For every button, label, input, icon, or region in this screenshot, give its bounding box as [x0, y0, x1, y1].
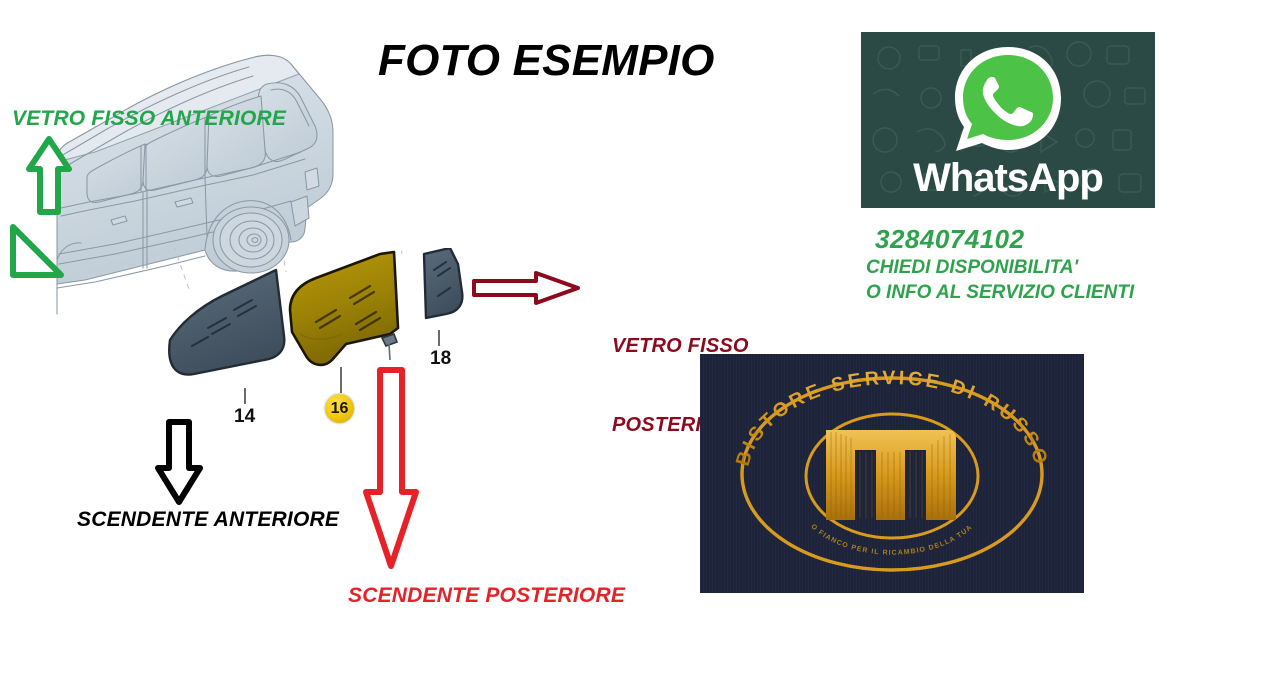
black-down-arrow-icon — [155, 418, 203, 506]
label-rear-drop-glass: SCENDENTE POSTERIORE — [348, 584, 625, 608]
dark-red-right-arrow-icon — [470, 270, 582, 306]
poster-canvas: 14 16 17 18 FOTO ESEMPIO VETRO FISSO ANT… — [0, 0, 1264, 678]
phone-number: 3284074102 — [875, 224, 1196, 255]
contact-line-1: CHIEDI DISPONIBILITA' — [866, 255, 1196, 280]
red-down-arrow-icon — [362, 366, 420, 572]
leader-line-14 — [244, 388, 246, 404]
company-logo-photo: MRICAMBISTORE SERVICE DI RUSSO MARCO — [700, 354, 1084, 593]
page-title: FOTO ESEMPIO — [378, 36, 715, 86]
label-front-drop-glass: SCENDENTE ANTERIORE — [77, 508, 339, 532]
part-number-14: 14 — [234, 406, 255, 428]
part-number-18: 18 — [430, 348, 451, 370]
whatsapp-banner: WhatsApp — [861, 32, 1155, 208]
green-up-arrow-icon — [26, 136, 72, 216]
part-number-16-badge: 16 — [325, 394, 354, 423]
leader-line-16 — [340, 367, 342, 393]
contact-line-2: O INFO AL SERVIZIO CLIENTI — [866, 280, 1196, 305]
contact-block: 3284074102 CHIEDI DISPONIBILITA' O INFO … — [866, 224, 1196, 306]
whatsapp-wordmark: WhatsApp — [861, 156, 1155, 201]
whatsapp-icon — [946, 41, 1070, 168]
green-triangle-icon — [8, 222, 66, 280]
label-front-fixed-glass: VETRO FISSO ANTERIORE — [12, 107, 286, 131]
leader-line-18 — [438, 330, 440, 346]
